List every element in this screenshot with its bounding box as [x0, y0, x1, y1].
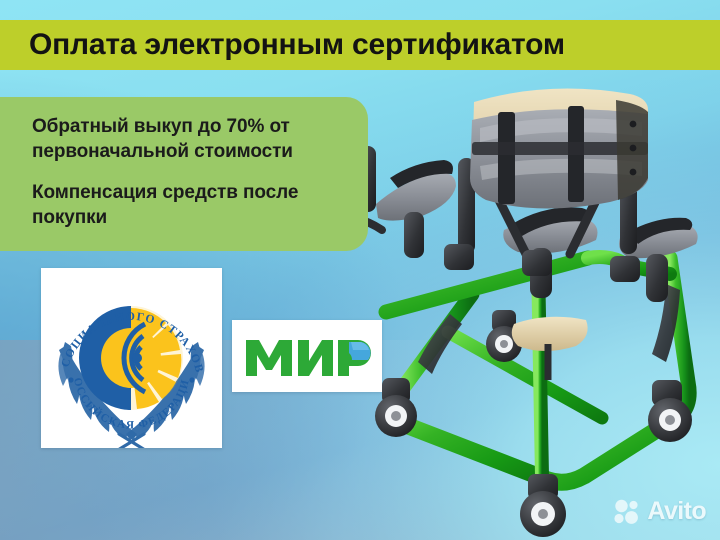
avito-dots-icon [614, 499, 640, 525]
avito-label: Avito [647, 497, 706, 526]
page-title: Оплата электронным сертификатом [29, 20, 709, 70]
product-image-gait-trainer [352, 62, 720, 540]
benefits-card: Обратный выкуп до 70% от первоначальной … [0, 97, 368, 251]
left-forearm-support [356, 146, 456, 258]
torso-support-pad [470, 89, 648, 209]
mir-logo [232, 320, 382, 392]
benefit-item: Обратный выкуп до 70% от первоначальной … [32, 115, 348, 164]
fss-logo: ФОНД СОЦИАЛЬНОГО СТРАХОВАНИЯ РОССИЙСКАЯ … [41, 268, 222, 448]
avito-watermark: Avito [614, 497, 706, 526]
mir-logo-card [232, 320, 382, 392]
benefit-item: Компенсация средств после покупки [32, 181, 348, 230]
promo-poster: Оплата электронным сертификатом Обратный… [0, 0, 720, 540]
fss-logo-card: ФОНД СОЦИАЛЬНОГО СТРАХОВАНИЯ РОССИЙСКАЯ … [41, 268, 222, 448]
